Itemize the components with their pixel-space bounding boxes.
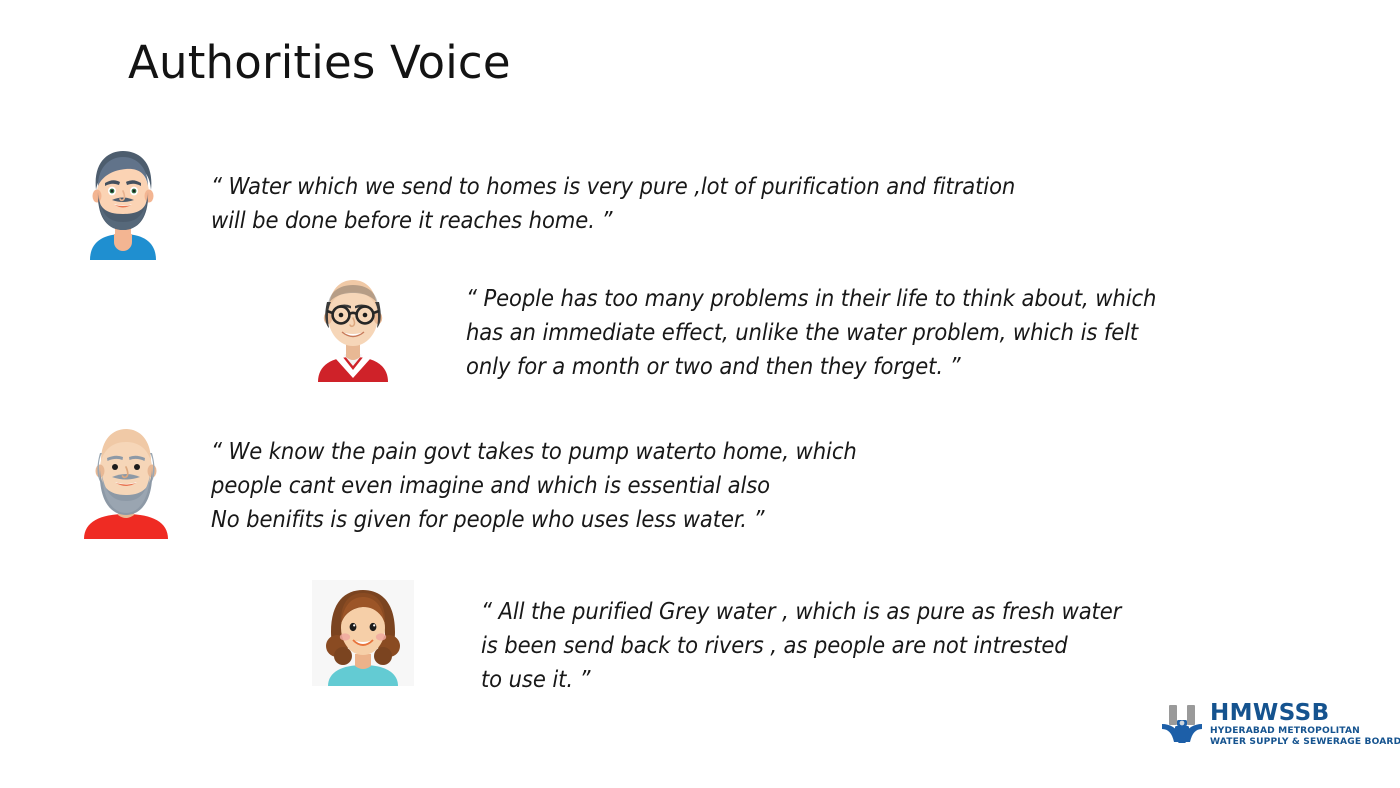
hmwssb-logo: HMWSSB HYDERABAD METROPOLITAN WATER SUPP… (1160, 702, 1400, 748)
slide-authorities-voice: Authorities Voice (0, 0, 1400, 788)
quote-text-1: “ Water which we send to homes is very p… (211, 169, 1015, 237)
quote-text-3: “ We know the pain govt takes to pump wa… (211, 434, 857, 536)
logo-subtitle-line-2: WATER SUPPLY & SEWERAGE BOARD (1210, 737, 1400, 748)
quote-text-2: “ People has too many problems in their … (466, 281, 1156, 383)
avatar-official-man-glasses-red-sweater (308, 266, 398, 382)
logo-text-block: HMWSSB HYDERABAD METROPOLITAN WATER SUPP… (1210, 702, 1400, 748)
logo-name: HMWSSB (1210, 702, 1400, 725)
avatar-official-man-blue-shirt (76, 142, 170, 260)
avatar-official-woman-brown-hair-teal-top (312, 580, 414, 686)
quote-text-4: “ All the purified Grey water , which is… (481, 594, 1121, 696)
logo-subtitle-line-1: HYDERABAD METROPOLITAN (1210, 726, 1400, 737)
water-tap-icon (1160, 702, 1204, 748)
page-title: Authorities Voice (128, 36, 511, 89)
avatar-official-man-grey-beard-red-shirt (76, 417, 176, 539)
